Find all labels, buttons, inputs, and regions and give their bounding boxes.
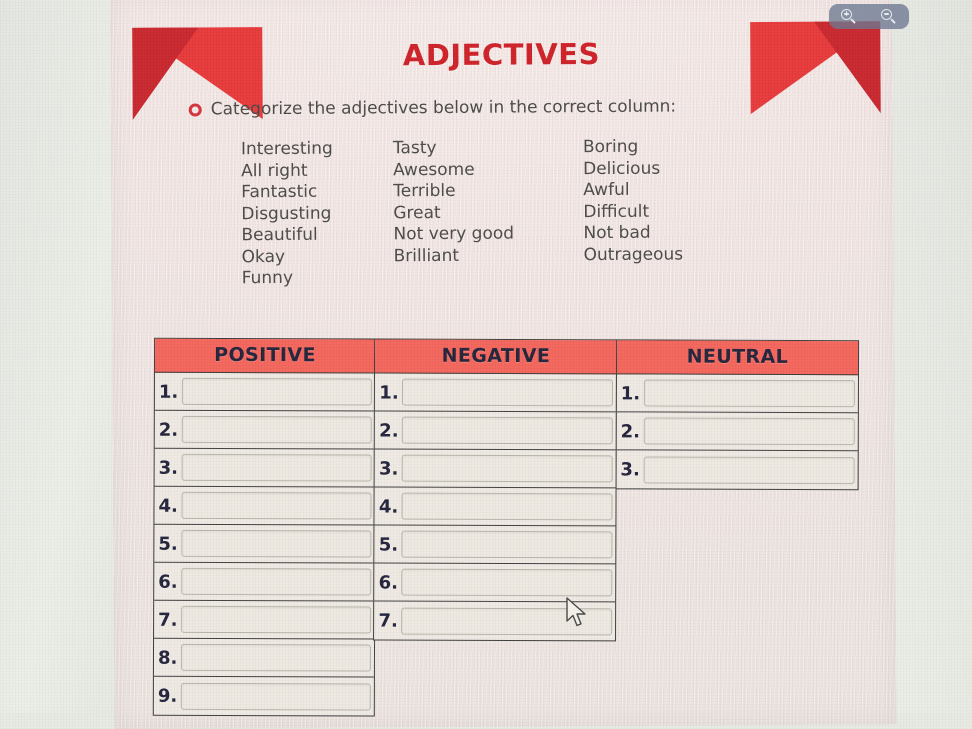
answer-input[interactable] [181, 568, 371, 596]
answer-input[interactable] [182, 416, 372, 444]
table-row: 3. [375, 450, 616, 489]
worksheet-page: ADJECTIVES Categorize the adjectives bel… [110, 0, 896, 729]
row-number: 4. [379, 496, 402, 516]
row-number: 4. [158, 495, 181, 515]
row-number: 7. [378, 611, 401, 631]
answer-table-columns: POSITIVE 1.2.3.4.5.6.7.8.9. NEGATIVE 1.2… [153, 338, 860, 718]
answer-input[interactable] [181, 530, 371, 558]
adjective-word: Brilliant [394, 245, 584, 268]
adjective-word: Outrageous [584, 243, 784, 266]
row-number: 6. [379, 572, 402, 592]
table-row: 5. [154, 525, 374, 564]
adjective-word: Tasty [393, 137, 583, 160]
table-row: 2. [155, 411, 375, 450]
zoom-in-icon[interactable] [841, 9, 857, 25]
row-number: 1. [621, 383, 644, 403]
adjective-word: Beautiful [241, 224, 393, 246]
adjective-word: Awesome [393, 159, 583, 182]
row-number: 2. [621, 421, 644, 441]
answer-input[interactable] [644, 379, 855, 407]
word-column-3: BoringDeliciousAwfulDifficultNot badOutr… [583, 136, 784, 288]
answer-input[interactable] [181, 606, 371, 634]
instruction-line: Categorize the adjectives below in the c… [189, 97, 677, 120]
row-number: 8. [158, 647, 181, 667]
column-header-neutral: NEUTRAL [617, 340, 858, 375]
table-row: 1. [155, 373, 375, 412]
table-row: 4. [154, 487, 374, 526]
column-rows-positive: 1.2.3.4.5.6.7.8.9. [154, 373, 375, 716]
ring-bullet-icon [189, 103, 202, 116]
adjective-word: Interesting [241, 138, 393, 160]
answer-input[interactable] [402, 531, 613, 559]
answer-input[interactable] [182, 378, 372, 406]
table-row: 6. [375, 564, 616, 603]
table-row: 4. [375, 488, 616, 527]
adjective-word: Okay [242, 246, 394, 268]
adjective-word: Not bad [583, 222, 783, 245]
answer-table: POSITIVE 1.2.3.4.5.6.7.8.9. NEGATIVE 1.2… [153, 338, 860, 718]
table-row: 5. [375, 526, 616, 565]
answer-input[interactable] [402, 493, 613, 521]
adjective-word: Delicious [583, 157, 783, 180]
answer-input[interactable] [181, 682, 371, 710]
adjective-word: All right [241, 160, 393, 182]
answer-input[interactable] [181, 492, 371, 520]
adjective-word: Funny [242, 267, 394, 289]
answer-column-negative: NEGATIVE 1.2.3.4.5.6.7. [373, 339, 617, 642]
answer-input[interactable] [182, 454, 372, 482]
row-number: 1. [379, 382, 402, 402]
answer-column-positive: POSITIVE 1.2.3.4.5.6.7.8.9. [153, 338, 376, 717]
column-header-positive: POSITIVE [155, 339, 375, 374]
zoom-in-plus-v [846, 11, 848, 16]
adjective-word: Not very good [393, 223, 583, 246]
table-row: 2. [617, 412, 858, 451]
zoom-out-icon[interactable] [881, 9, 897, 25]
row-number: 2. [379, 420, 402, 440]
answer-input[interactable] [402, 379, 613, 407]
adjective-word: Awful [583, 179, 783, 202]
row-number: 9. [158, 686, 181, 706]
desk-surface-left [0, 0, 118, 729]
answer-input[interactable] [643, 456, 854, 484]
adjective-word-list: InterestingAll rightFantasticDisgustingB… [241, 135, 862, 289]
row-number: 2. [159, 419, 182, 439]
answer-input[interactable] [401, 607, 612, 635]
adjective-word: Difficult [583, 200, 783, 223]
answer-input[interactable] [181, 644, 371, 672]
row-number: 3. [159, 457, 182, 477]
adjective-word: Boring [583, 136, 783, 159]
table-row: 6. [154, 563, 374, 602]
row-number: 5. [379, 534, 402, 554]
zoom-controls[interactable] [829, 4, 909, 29]
adjective-word: Fantastic [241, 181, 393, 203]
row-number: 5. [158, 533, 181, 553]
column-header-negative: NEGATIVE [375, 340, 616, 375]
table-row: 1. [375, 374, 616, 413]
answer-input[interactable] [402, 455, 613, 483]
table-row: 3. [155, 449, 375, 488]
row-number: 1. [159, 381, 182, 401]
column-rows-negative: 1.2.3.4.5.6.7. [374, 374, 616, 641]
row-number: 3. [379, 458, 402, 478]
table-row: 2. [375, 412, 616, 451]
screen: ADJECTIVES Categorize the adjectives bel… [0, 0, 972, 729]
table-row: 8. [154, 639, 374, 678]
adjective-word: Great [393, 202, 583, 225]
table-row: 1. [617, 374, 858, 413]
zoom-out-minus [884, 13, 889, 15]
table-row: 3. [616, 450, 857, 489]
page-title: ADJECTIVES [110, 35, 892, 74]
adjective-word: Disgusting [241, 203, 393, 225]
table-row: 7. [374, 602, 615, 641]
word-column-1: InterestingAll rightFantasticDisgustingB… [241, 138, 394, 289]
instruction-text: Categorize the adjectives below in the c… [211, 97, 677, 120]
row-number: 3. [620, 459, 643, 479]
row-number: 6. [158, 571, 181, 591]
zoom-out-handle [890, 18, 896, 24]
word-column-2: TastyAwesomeTerribleGreatNot very goodBr… [393, 137, 584, 289]
answer-column-neutral: NEUTRAL 1.2.3. [615, 339, 859, 490]
answer-input[interactable] [402, 417, 613, 445]
table-row: 7. [154, 601, 374, 640]
adjective-word: Terrible [393, 180, 583, 203]
table-row: 9. [154, 677, 374, 716]
zoom-in-handle [850, 18, 856, 24]
column-rows-neutral: 1.2.3. [616, 374, 857, 489]
desk-surface-right [886, 0, 972, 729]
answer-input[interactable] [644, 417, 855, 445]
row-number: 7. [158, 609, 181, 629]
answer-input[interactable] [402, 569, 613, 597]
